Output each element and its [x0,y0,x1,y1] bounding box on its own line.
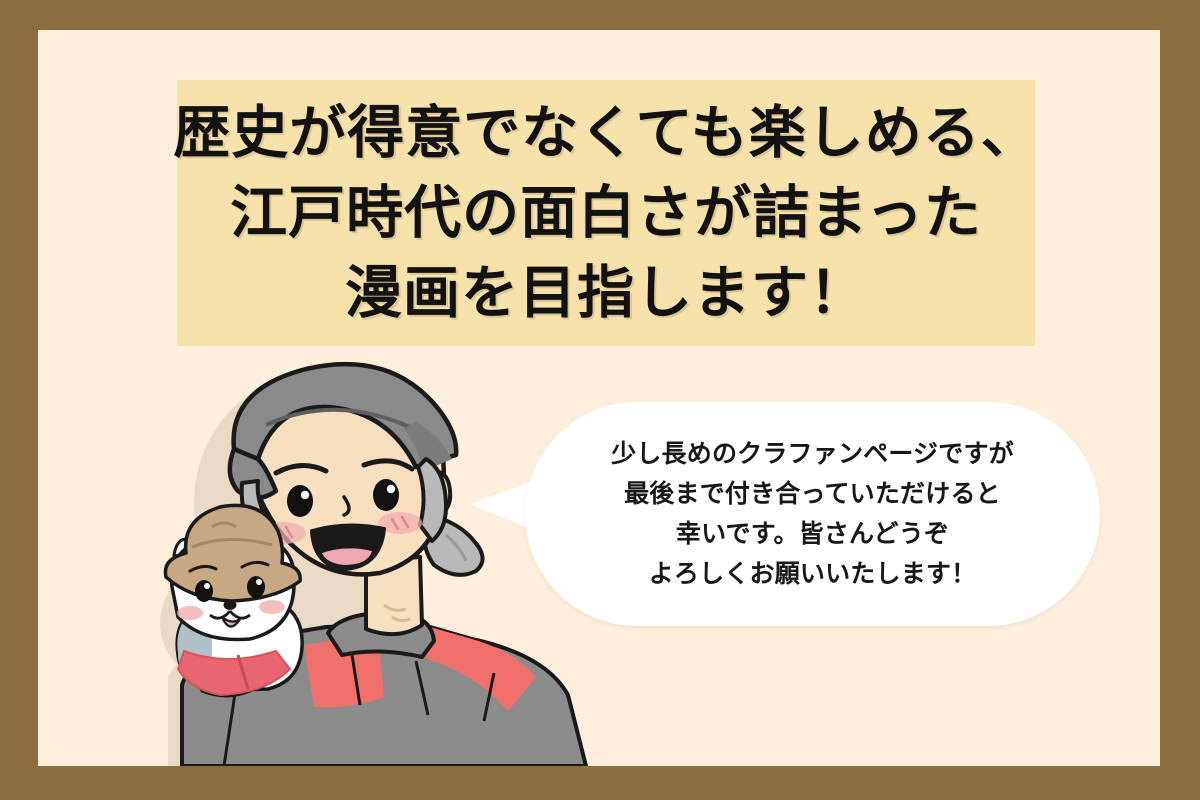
bubble-line-2: 最後まで付き合っていただけると [624,474,1001,514]
headline-line-3: 漫画を目指します！ [345,254,867,332]
headline-line-1: 歴史が得意でなくても楽しめる、 [173,94,1038,172]
bubble-line-4: よろしくお願いいたします！ [649,554,977,594]
poster-canvas: 歴史が得意でなくても楽しめる、 江戸時代の面白さが詰まった 漫画を目指します！ [0,0,1200,800]
speech-bubble: 少し長めのクラファンページですが 最後まで付き合っていただけると 幸いです。皆さ… [525,402,1100,626]
bubble-line-3: 幸いです。皆さんどうぞ [676,514,949,554]
headline-banner: 歴史が得意でなくても楽しめる、 江戸時代の面白さが詰まった 漫画を目指します！ [177,80,1035,346]
headline-line-2: 江戸時代の面白さが詰まった [230,174,982,252]
poster-inner-card: 歴史が得意でなくても楽しめる、 江戸時代の面白さが詰まった 漫画を目指します！ [38,30,1160,766]
bubble-line-1: 少し長めのクラファンページですが [611,434,1014,474]
